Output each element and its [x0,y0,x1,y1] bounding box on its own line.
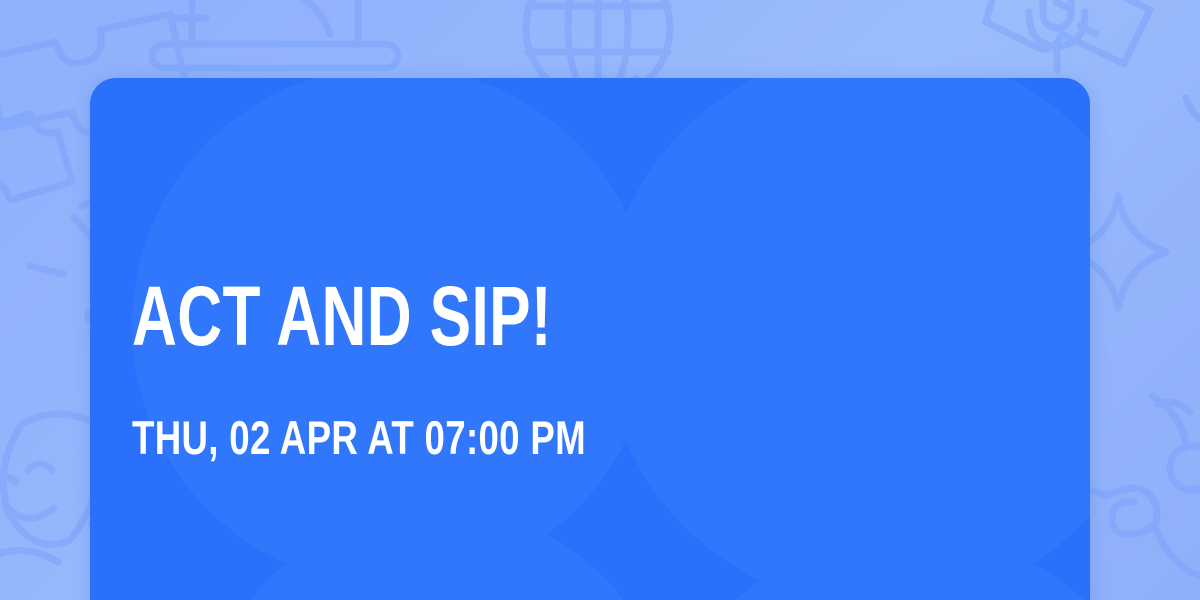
streamer-icon [1152,396,1200,490]
ticket-icon [0,114,72,200]
event-title: ACT AND SIP! [132,274,552,358]
microphone-icon [1029,0,1085,70]
event-card-content: ACT AND SIP! THU, 02 APR AT 07:00 PM [132,78,1090,600]
laptop-icon [152,0,398,68]
ticket-icon [986,0,1150,64]
sparkle-icon [1186,98,1200,122]
event-banner: ACT AND SIP! THU, 02 APR AT 07:00 PM [0,0,1200,600]
event-datetime: THU, 02 APR AT 07:00 PM [132,414,586,461]
event-card[interactable]: ACT AND SIP! THU, 02 APR AT 07:00 PM [90,78,1090,600]
smiley-icon [0,550,58,562]
